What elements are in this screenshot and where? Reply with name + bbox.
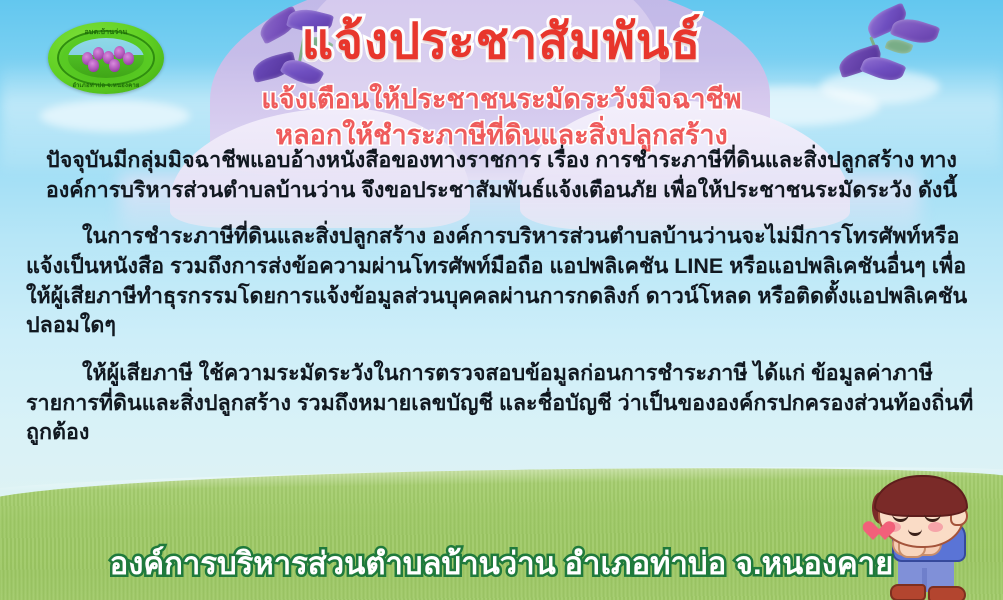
announcement-body: ปัจจุบันมีกลุ่มมิจฉาชีพแอบอ้างหนังสือของ… [26, 146, 977, 448]
boy-cheek-right [928, 522, 943, 532]
footer-organization-name: องค์การบริหารส่วนตำบลบ้านว่าน อำเภอท่าบ่… [0, 548, 1003, 579]
paragraph-1: ปัจจุบันมีกลุ่มมิจฉาชีพแอบอ้างหนังสือของ… [26, 146, 977, 205]
paragraph-2: ในการชำระภาษีที่ดินและสิ่งปลูกสร้าง องค์… [26, 222, 977, 341]
subtitle: แจ้งเตือนให้ประชาชนระมัดระวังมิจฉาชีพ หล… [0, 82, 1003, 153]
cartoon-boy-wai [862, 476, 994, 600]
page-title: แจ้งประชาสัมพันธ์ [0, 18, 1003, 67]
boy-hair [874, 475, 968, 517]
boy-shoe-right [928, 586, 966, 600]
paragraph-3: ให้ผู้เสียภาษี ใช้ความระมัดระวังในการตรว… [26, 359, 977, 448]
announcement-poster: อบต.บ้านว่าน อำเภอท่าบ่อ จ.หนองคาย แจ้งป… [0, 0, 1003, 600]
boy-shoe-left [890, 584, 926, 600]
subtitle-line-1: แจ้งเตือนให้ประชาชนระมัดระวังมิจฉาชีพ [0, 82, 1003, 118]
heart-icon [868, 522, 890, 542]
